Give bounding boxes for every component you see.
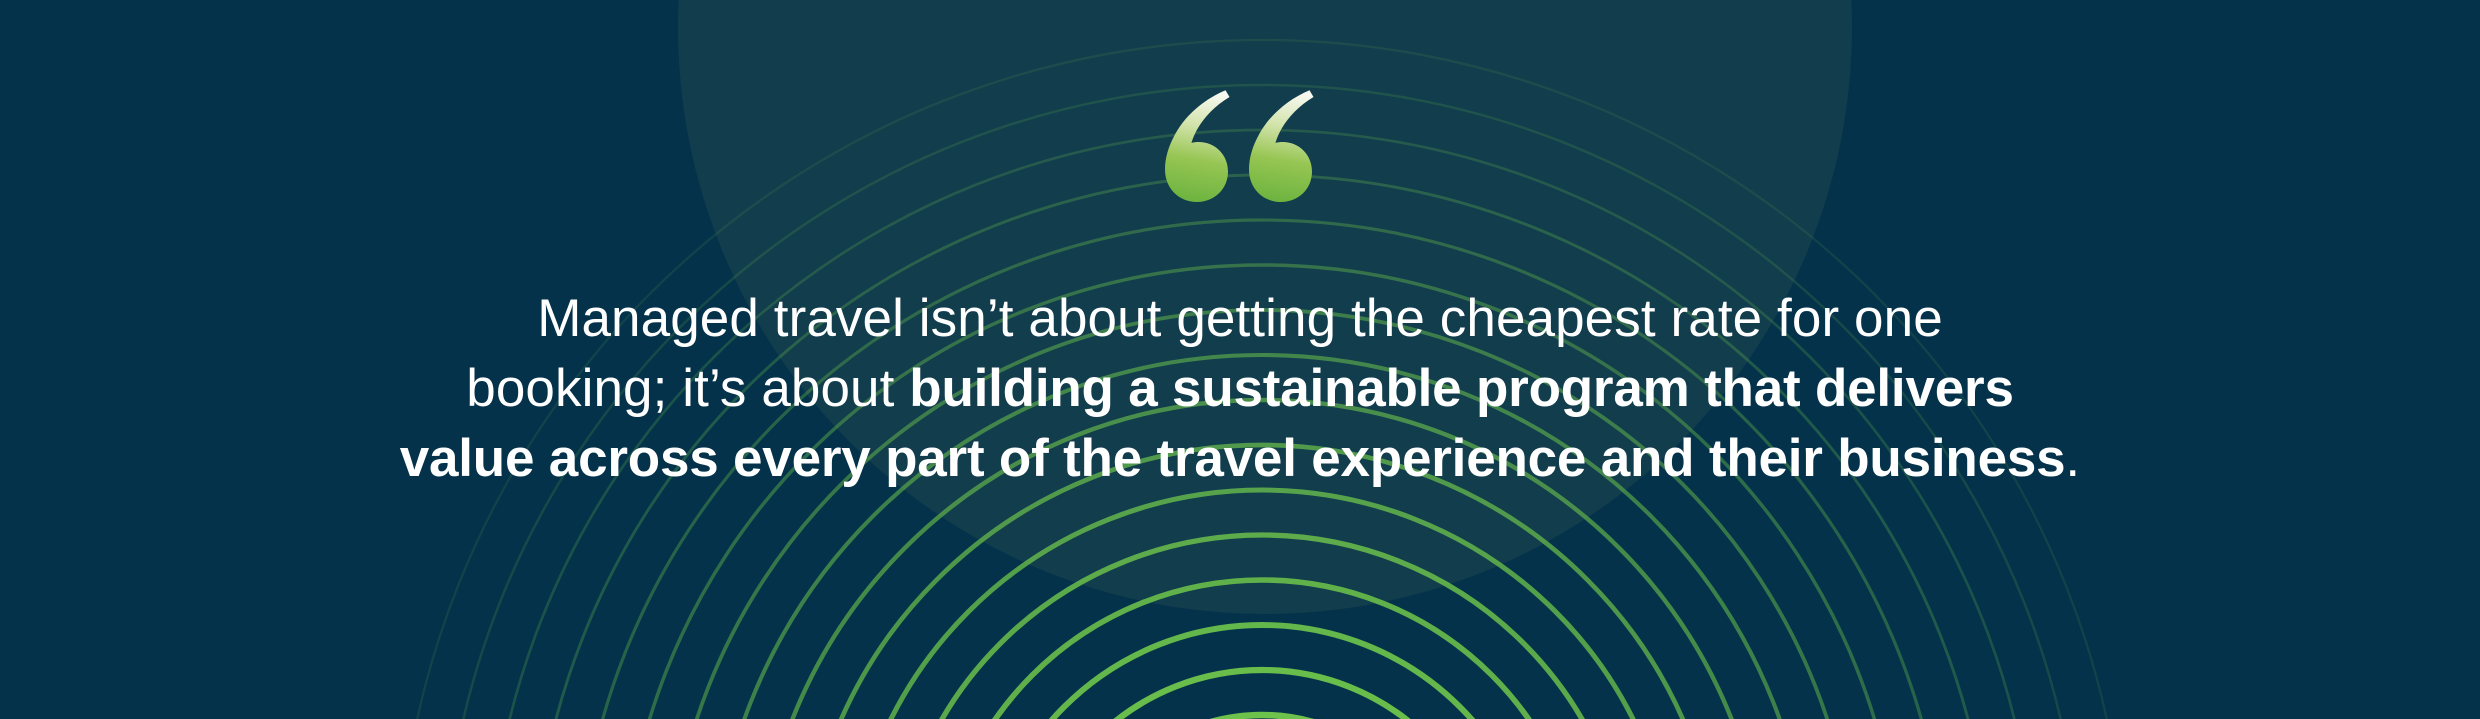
quote-line-3-strong: value across every part of the travel ex… xyxy=(400,429,2066,488)
double-open-quote-icon xyxy=(0,88,2480,204)
quote-banner: Managed travel isn’t about getting the c… xyxy=(0,0,2480,719)
quote-line-2-strong: building a sustainable program that deli… xyxy=(909,359,2013,418)
quote-paragraph: Managed travel isn’t about getting the c… xyxy=(330,284,2150,494)
quote-period: . xyxy=(2065,429,2080,488)
quote-line-1: Managed travel isn’t about getting the c… xyxy=(537,289,1943,348)
quote-content: Managed travel isn’t about getting the c… xyxy=(0,0,2480,719)
quote-line-2-light: booking; it’s about xyxy=(466,359,909,418)
